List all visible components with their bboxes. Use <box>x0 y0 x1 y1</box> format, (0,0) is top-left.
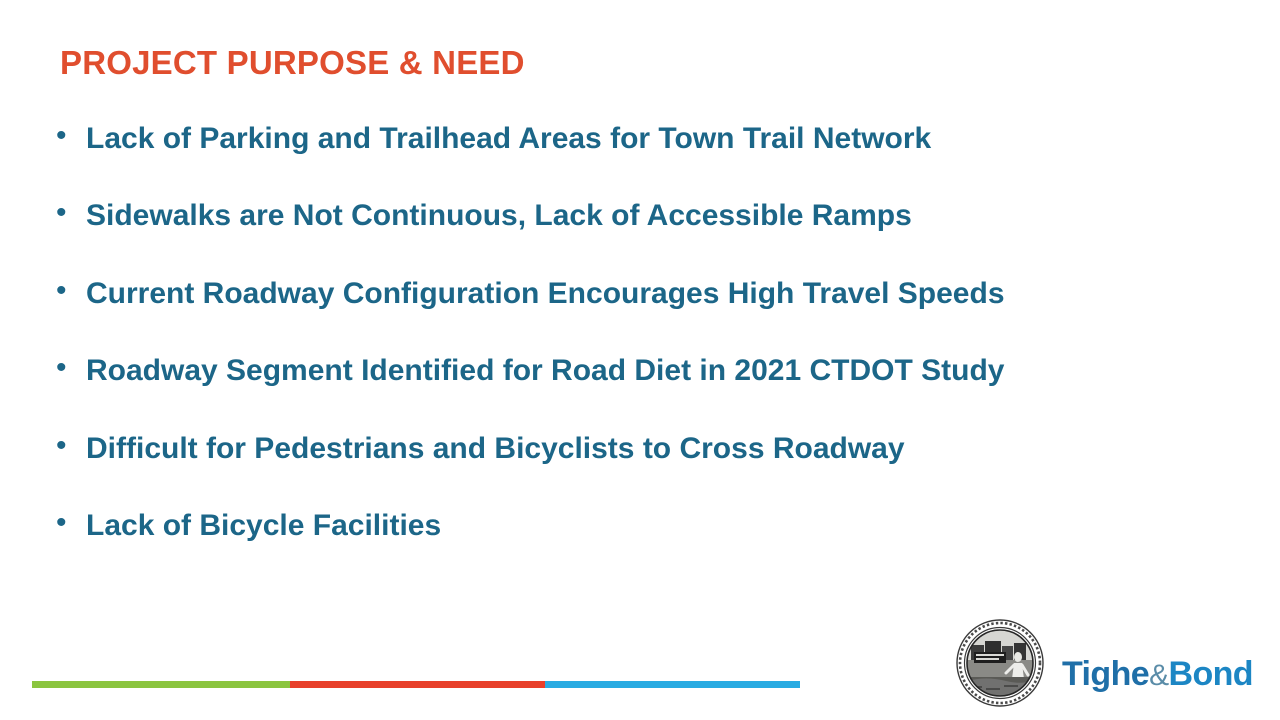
bullet-text: Sidewalks are Not Continuous, Lack of Ac… <box>86 195 1126 236</box>
tighe-and-bond-logo: Tighe&Bond <box>1062 657 1253 691</box>
footer-accent-bar <box>32 681 800 688</box>
bullet-text: Lack of Parking and Trailhead Areas for … <box>86 118 1126 159</box>
logo-text-bond: Bond <box>1168 655 1252 693</box>
bullet-item: • Roadway Segment Identified for Road Di… <box>52 350 1182 391</box>
logo-text-tighe: Tighe <box>1062 655 1149 693</box>
bullet-marker-icon: • <box>52 118 86 155</box>
bullet-item: • Difficult for Pedestrians and Bicyclis… <box>52 428 1182 469</box>
bullet-text: Current Roadway Configuration Encourages… <box>86 273 1126 314</box>
bullet-marker-icon: • <box>52 273 86 310</box>
accent-segment-blue <box>545 681 800 688</box>
bullet-item: • Lack of Bicycle Facilities <box>52 505 1182 546</box>
logo-ampersand: & <box>1149 659 1168 692</box>
bullet-marker-icon: • <box>52 350 86 387</box>
presentation-slide: PROJECT PURPOSE & NEED • Lack of Parking… <box>0 0 1280 720</box>
slide-title: PROJECT PURPOSE & NEED <box>60 45 525 81</box>
bullet-text: Difficult for Pedestrians and Bicyclists… <box>86 428 1126 469</box>
bullet-item: • Sidewalks are Not Continuous, Lack of … <box>52 195 1182 236</box>
bullet-item: • Current Roadway Configuration Encourag… <box>52 273 1182 314</box>
accent-segment-red <box>290 681 545 688</box>
bullet-item: • Lack of Parking and Trailhead Areas fo… <box>52 118 1182 159</box>
bullet-marker-icon: • <box>52 195 86 232</box>
bullet-text: Roadway Segment Identified for Road Diet… <box>86 350 1126 391</box>
bullet-list: • Lack of Parking and Trailhead Areas fo… <box>52 118 1182 582</box>
bullet-marker-icon: • <box>52 505 86 542</box>
bullet-marker-icon: • <box>52 428 86 465</box>
bullet-text: Lack of Bicycle Facilities <box>86 505 1126 546</box>
accent-segment-green <box>32 681 290 688</box>
town-seal-icon <box>956 619 1044 707</box>
